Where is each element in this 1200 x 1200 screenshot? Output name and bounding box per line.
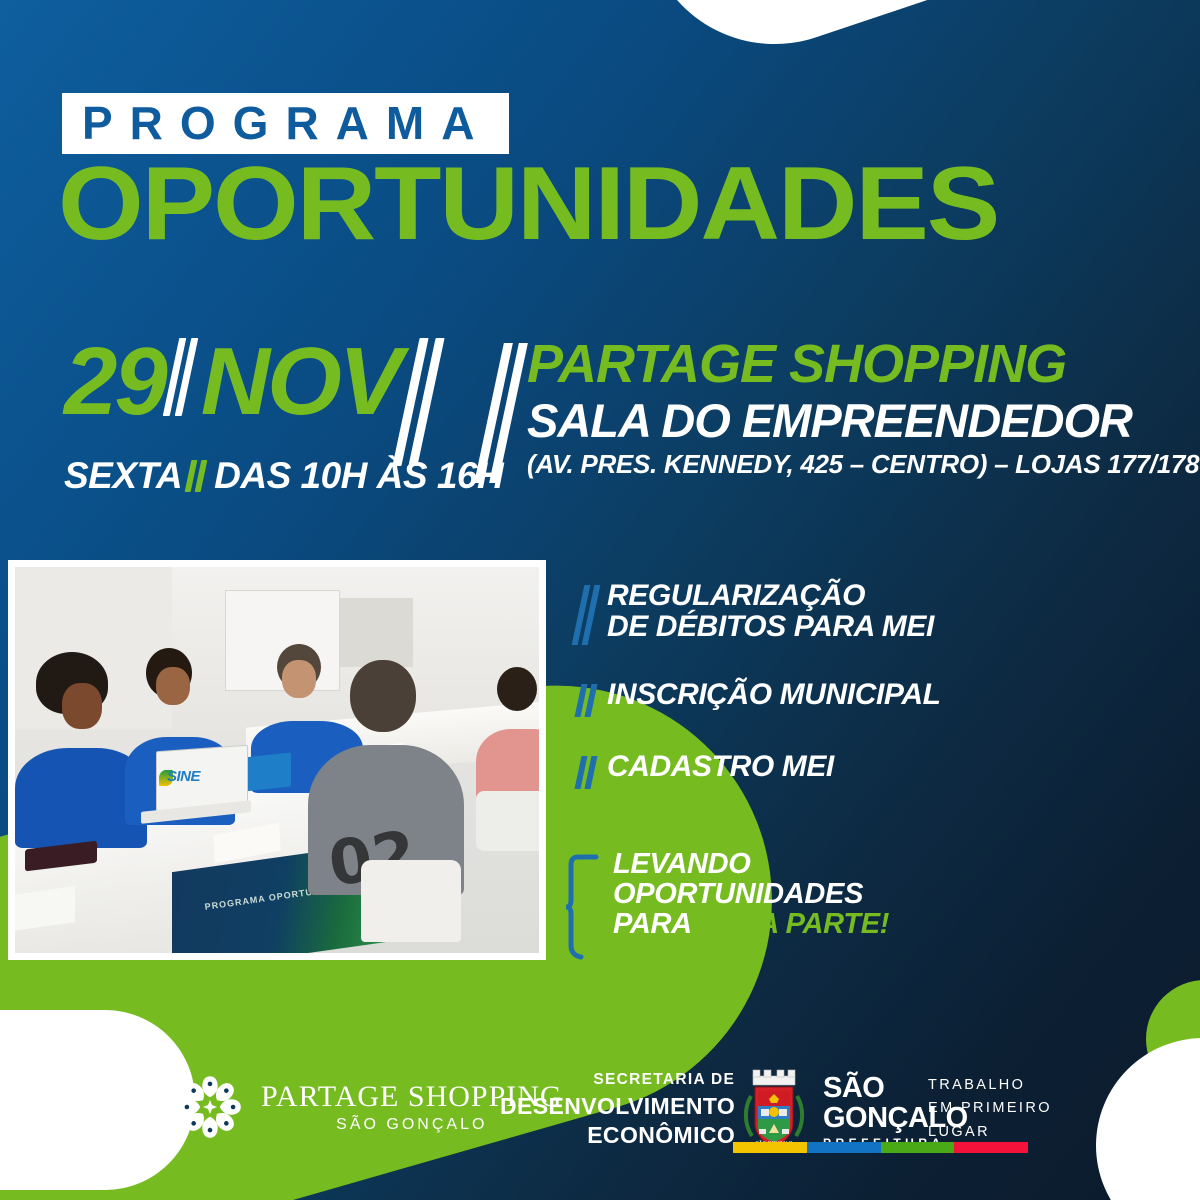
service-label: REGULARIZAÇÃO DE DÉBITOS PARA MEI — [607, 580, 934, 642]
event-date-block: 29 NOV — [64, 338, 444, 466]
venue-address: (AV. PRES. KENNEDY, 425 – CENTRO) – LOJA… — [527, 451, 1199, 477]
secretaria-line-2: DESENVOLVIMENTO — [500, 1092, 735, 1121]
tagline-line-1: LEVANDO — [613, 850, 889, 880]
event-photo: SINE PROGRAMA OPORTUNIDADES 02 — [15, 567, 539, 953]
city-slogan: TRABALHO EM PRIMEIRO LUGAR — [928, 1074, 1052, 1144]
brand-color-stripe — [733, 1142, 1028, 1153]
photo-staff-3-face — [282, 660, 316, 698]
photo-visitor-1-head — [350, 660, 416, 732]
date-separator-bars — [171, 338, 195, 416]
photo-staff-2-face — [156, 667, 190, 705]
event-weekday: SEXTA — [64, 457, 182, 494]
stripe-segment-green — [881, 1142, 955, 1153]
tagline-line-3-highlight: TODA PARTE! — [699, 908, 890, 940]
stripe-segment-yellow — [733, 1142, 807, 1153]
services-list: REGULARIZAÇÃO DE DÉBITOS PARA MEI INSCRI… — [578, 580, 941, 823]
service-marker-bars — [578, 679, 598, 717]
weekday-separator-bars — [188, 460, 208, 492]
secretaria-line-1: SECRETARIA DE — [500, 1068, 735, 1092]
logo-secretaria: SECRETARIA DE DESENVOLVIMENTO ECONÔMICO — [500, 1068, 735, 1150]
date-venue-divider-bars — [406, 338, 438, 466]
venue-name: PARTAGE SHOPPING — [527, 337, 1199, 391]
venue-block: PARTAGE SHOPPING SALA DO EMPREENDEDOR (A… — [489, 337, 1199, 483]
slogan-line-1: TRABALHO — [928, 1074, 1052, 1097]
service-label: CADASTRO MEI — [607, 751, 834, 782]
photo-chair-back — [476, 791, 539, 851]
event-day: 29 — [64, 338, 165, 426]
slogan-line-2: EM PRIMEIRO — [928, 1097, 1052, 1120]
service-label: INSCRIÇÃO MUNICIPAL — [607, 679, 941, 710]
service-marker-bars — [578, 751, 598, 789]
event-month: NOV — [201, 338, 400, 426]
event-photo-frame: SINE PROGRAMA OPORTUNIDADES 02 — [8, 560, 546, 960]
tagline-line-2: OPORTUNIDADES — [613, 880, 889, 910]
service-item: INSCRIÇÃO MUNICIPAL — [578, 679, 941, 717]
tagline-line-3: PARA TODA PARTE! — [613, 910, 889, 940]
program-kicker-text: PROGRAMA — [82, 100, 491, 146]
photo-cabinet-secondary — [340, 598, 413, 667]
page-title: OPORTUNIDADES — [58, 152, 998, 256]
stripe-segment-blue — [807, 1142, 881, 1153]
slogan-line-3: LUGAR — [928, 1121, 1052, 1144]
quote-bracket-icon — [566, 854, 602, 960]
service-item: CADASTRO MEI — [578, 751, 941, 789]
venue-divider-bars — [489, 337, 519, 483]
photo-laptop-brand: SINE — [167, 768, 200, 785]
stripe-segment-red — [954, 1142, 1028, 1153]
poster-root: PROGRAMA OPORTUNIDADES 29 NOV SEXTA DAS … — [0, 0, 1200, 1200]
photo-chair-front — [361, 860, 461, 942]
secretaria-line-3: ECONÔMICO — [500, 1121, 735, 1150]
tagline-block: LEVANDO OPORTUNIDADES PARA TODA PARTE! — [566, 850, 889, 960]
photo-staff-1-face — [62, 683, 102, 729]
program-kicker-band: PROGRAMA — [62, 93, 509, 154]
tagline-line-3-prefix: PARA — [613, 908, 699, 940]
service-item: REGULARIZAÇÃO DE DÉBITOS PARA MEI — [578, 580, 941, 645]
event-time-block: SEXTA DAS 10H ÀS 16H — [64, 457, 503, 494]
footer: PARTAGE SHOPPING SÃO GONÇALO SECRETARIA … — [0, 1052, 1200, 1182]
event-hours: DAS 10H ÀS 16H — [214, 457, 503, 494]
venue-room: SALA DO EMPREENDEDOR — [527, 397, 1199, 444]
decor-shape-top-right-white — [610, 0, 1200, 79]
service-marker-bars — [578, 580, 598, 645]
rosette-icon — [175, 1072, 245, 1142]
